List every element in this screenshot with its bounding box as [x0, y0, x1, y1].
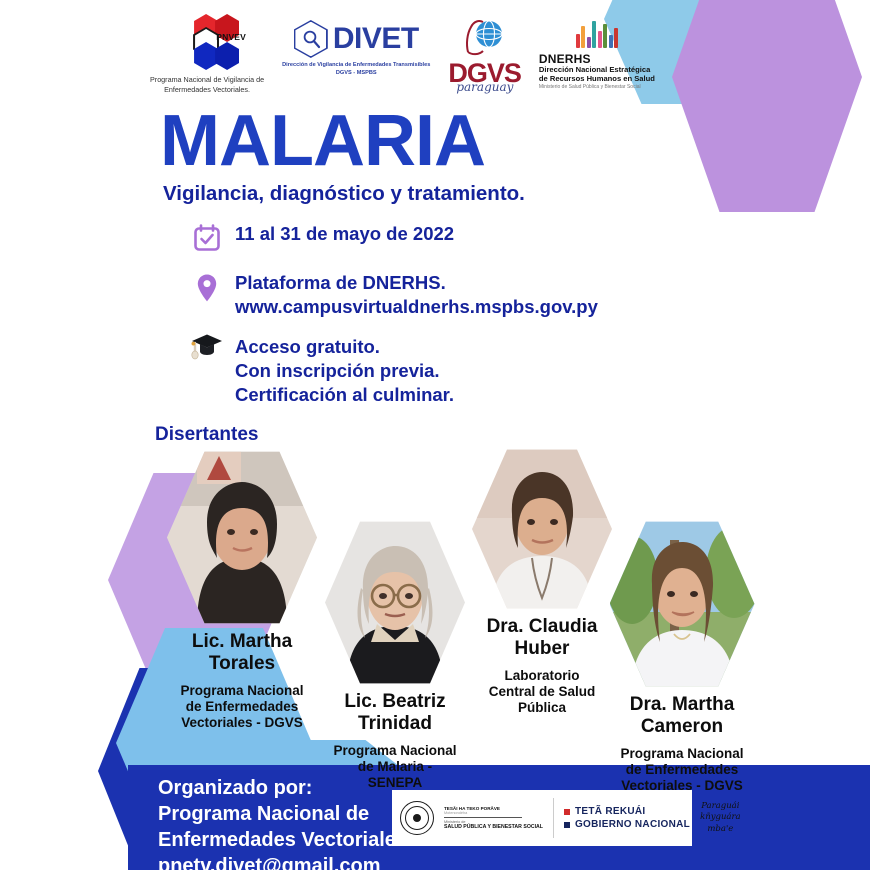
- mspbs-ministry-name: SALUD PÚBLICA Y BIENESTAR SOCIAL: [444, 824, 543, 830]
- divet-subtitle-line2: DGVS - MSPBS: [282, 69, 430, 77]
- info-text-access: Acceso gratuito. Con inscripción previa.…: [235, 331, 454, 406]
- pnvev-caption-line1: Programa Nacional de Vigilancia de: [150, 75, 264, 85]
- pnvev-caption: Programa Nacional de Vigilancia de Enfer…: [150, 75, 264, 94]
- pnvev-acronym: PNVEV: [216, 32, 246, 42]
- footer-line-organizado: Organizado por:: [158, 775, 407, 801]
- info-date-line1: 11 al 31 de mayo de 2022: [235, 222, 454, 246]
- divet-subtitle-line1: Dirección de Vigilancia de Enfermedades …: [282, 61, 430, 69]
- info-text-date: 11 al 31 de mayo de 2022: [235, 222, 454, 246]
- dnerhs-wordmark: DNERHS: [539, 53, 655, 66]
- info-row-date: 11 al 31 de mayo de 2022: [190, 222, 710, 258]
- speaker-card: Dra. Martha Cameron Programa Nacional de…: [592, 520, 772, 794]
- event-info-list: 11 al 31 de mayo de 2022 Plataforma de D…: [190, 222, 710, 419]
- location-pin-icon: [190, 271, 224, 307]
- gobierno-line2: GOBIERNO NACIONAL: [575, 819, 690, 830]
- pnvev-caption-line2: Enfermedades Vectoriales.: [150, 85, 264, 95]
- divet-subtitle: Dirección de Vigilancia de Enfermedades …: [282, 61, 430, 78]
- blue-square-icon: [564, 822, 570, 828]
- logo-dnerhs: DNERHS Dirección Nacional Estratégica de…: [539, 18, 655, 91]
- info-location-line1: Plataforma de DNERHS.: [235, 271, 598, 295]
- divet-magnifier-icon: [294, 20, 328, 58]
- speaker-photo: [325, 520, 465, 685]
- logo-row: PNVEV Programa Nacional de Vigilancia de…: [150, 14, 750, 94]
- logo-pnvev: PNVEV Programa Nacional de Vigilancia de…: [150, 14, 264, 94]
- mspbs-logo-text: TESÃI HA TEKO PORÃVE Motenondéha Ministe…: [444, 806, 543, 830]
- dnerhs-people-bars-icon: [576, 18, 619, 48]
- speaker-photo: [610, 520, 755, 688]
- footer-line-email[interactable]: pnetv.divet@gmail.com: [158, 853, 407, 870]
- divet-wordmark: DIVET: [333, 24, 419, 54]
- poster-subtitle: Vigilancia, diagnóstico y tratamiento.: [163, 182, 525, 206]
- logo-dgvs: DGVS paraguay: [448, 18, 521, 93]
- speaker-photo: [167, 450, 317, 625]
- logo-divet: DIVET Dirección de Vigilancia de Enferme…: [282, 20, 430, 78]
- pnvev-honeycomb-icon: PNVEV: [170, 14, 244, 70]
- mspbs-subtagline: Motenondéha: [444, 811, 543, 815]
- gobierno-line1: TETÃ REKUÁI: [575, 806, 646, 817]
- speaker-name: Dra. Martha Cameron: [592, 694, 772, 739]
- footer-line-programa: Programa Nacional de: [158, 801, 407, 827]
- paraguay-seal-icon: [400, 801, 434, 835]
- poster-title: MALARIA: [160, 105, 485, 177]
- dnerhs-subtitle-line2: de Recursos Humanos en Salud: [539, 75, 655, 84]
- dnerhs-subtitle-line3: Ministerio de Salud Pública y Bienestar …: [539, 85, 655, 91]
- dgvs-subtitle: paraguay: [456, 82, 521, 93]
- graduation-cap-icon: [190, 331, 224, 365]
- speakers-heading: Disertantes: [155, 424, 259, 446]
- footer-organizer-text: Organizado por: Programa Nacional de Enf…: [158, 775, 407, 870]
- info-access-line2: Con inscripción previa.: [235, 359, 454, 383]
- magnifier-glyph: [302, 29, 321, 49]
- logo-divider: [553, 798, 554, 838]
- speaker-photo: [472, 448, 612, 610]
- info-text-location: Plataforma de DNERHS. www.campusvirtuald…: [235, 271, 598, 318]
- info-access-line1: Acceso gratuito.: [235, 335, 454, 359]
- info-row-access: Acceso gratuito. Con inscripción previa.…: [190, 331, 710, 406]
- gobierno-nacional-logo: TETÃ REKUÁI GOBIERNO NACIONAL: [564, 806, 690, 830]
- speaker-role: Programa Nacional de Enfermedades Vector…: [592, 746, 772, 795]
- calendar-check-icon: [190, 222, 224, 258]
- paraguay-slogan: Paraguái kñyguára mba'e: [700, 801, 743, 835]
- government-logo-bar: TESÃI HA TEKO PORÃVE Motenondéha Ministe…: [392, 790, 692, 846]
- info-row-location: Plataforma de DNERHS. www.campusvirtuald…: [190, 271, 710, 318]
- dgvs-globe-icon: [464, 18, 506, 58]
- footer-line-enfermedades: Enfermedades Vectoriales: [158, 827, 407, 853]
- red-square-icon: [564, 809, 570, 815]
- info-access-line3: Certificación al culminar.: [235, 383, 454, 407]
- poster-root: PNVEV Programa Nacional de Vigilancia de…: [0, 0, 870, 870]
- info-location-url[interactable]: www.campusvirtualdnerhs.mspbs.gov.py: [235, 295, 598, 319]
